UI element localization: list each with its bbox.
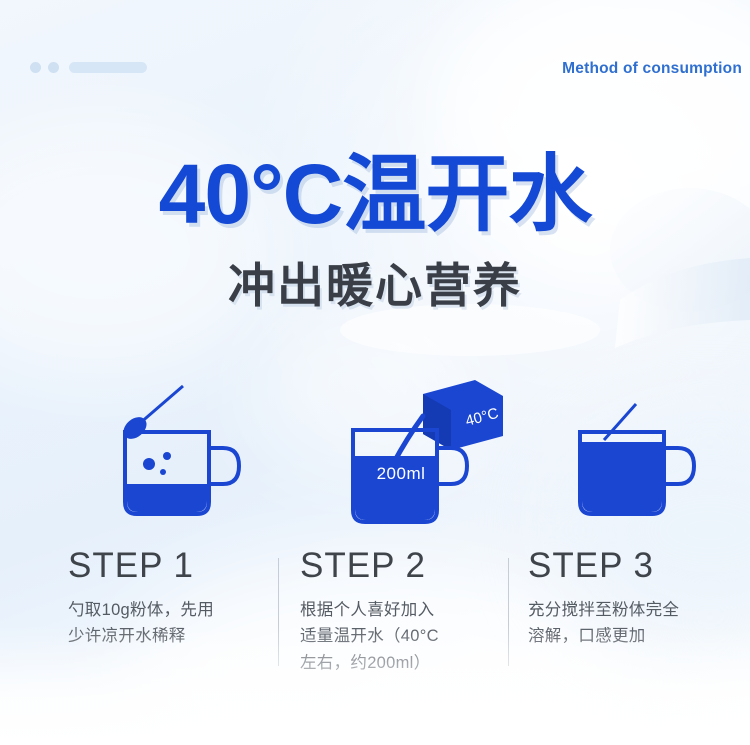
step-description: 充分搅拌至粉体完全 溶解，口感更加 — [528, 597, 733, 650]
step-divider — [278, 558, 279, 666]
page-title: 40°C温开水 — [0, 152, 750, 236]
step-item-2: STEP 2 根据个人喜好加入 适量温开水（40°C 左右，约200ml） — [300, 548, 505, 676]
window-dot-icon — [48, 62, 59, 73]
cup-step-3-illustration — [560, 380, 710, 535]
step-divider — [508, 558, 509, 666]
cup-volume-label: 200ml — [359, 464, 443, 484]
header-title: Method of consumption — [562, 60, 742, 78]
cup-step-2-illustration: 40°C 200ml — [335, 360, 535, 545]
step-item-3: STEP 3 充分搅拌至粉体完全 溶解，口感更加 — [528, 548, 733, 650]
steps-row: STEP 1 勺取10g粉体，先用 少许凉开水稀释 STEP 2 根据个人喜好加… — [0, 548, 750, 698]
step-description: 根据个人喜好加入 适量温开水（40°C 左右，约200ml） — [300, 597, 505, 676]
step-description: 勺取10g粉体，先用 少许凉开水稀释 — [68, 597, 273, 650]
window-dots — [30, 62, 147, 73]
step-item-1: STEP 1 勺取10g粉体，先用 少许凉开水稀释 — [68, 548, 273, 650]
illustration-row: 40°C 200ml — [0, 330, 750, 545]
window-pill-bar — [69, 62, 147, 73]
step-title: STEP 1 — [68, 548, 273, 583]
step-title: STEP 3 — [528, 548, 733, 583]
step-title: STEP 2 — [300, 548, 505, 583]
window-dot-icon — [30, 62, 41, 73]
page-root: Method of consumption 40°C温开水 冲出暖心营养 — [0, 0, 750, 745]
cup-step-1-illustration — [105, 380, 255, 535]
page-subtitle: 冲出暖心营养 — [0, 262, 750, 309]
